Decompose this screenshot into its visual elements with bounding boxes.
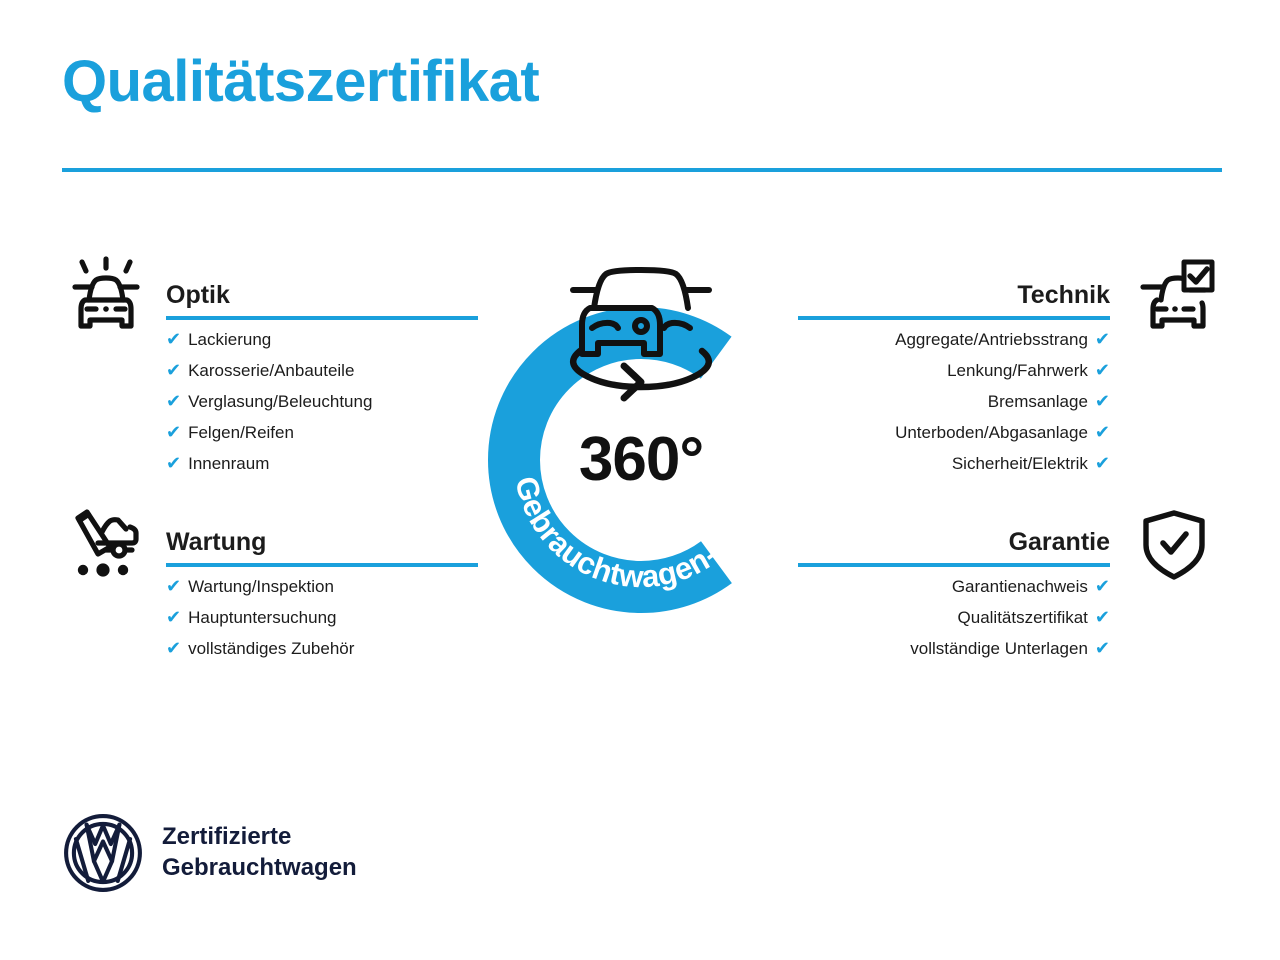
list-item-label: Sicherheit/Elektrik xyxy=(952,454,1088,473)
checklist-garantie: Garantienachweis✔ Qualitätszertifikat✔ v… xyxy=(798,571,1110,664)
check-icon: ✔ xyxy=(1095,633,1110,663)
checklist-technik: Aggregate/Antriebsstrang✔ Lenkung/Fahrwe… xyxy=(798,324,1110,479)
badge-degrees: 360° xyxy=(466,424,816,495)
list-item: Bremsanlage✔ xyxy=(798,386,1110,417)
section-divider-technik xyxy=(798,316,1110,320)
list-item: ✔Felgen/Reifen xyxy=(166,417,372,448)
brand-wordmark: Zertifizierte Gebrauchtwagen xyxy=(162,822,357,883)
title-divider xyxy=(62,168,1222,172)
list-item: Sicherheit/Elektrik✔ xyxy=(798,448,1110,479)
list-item-label: Bremsanlage xyxy=(988,392,1088,411)
list-item: ✔vollständiges Zubehör xyxy=(166,633,354,664)
section-garantie: Garantie Garantienachweis✔ Qualitätszert… xyxy=(802,515,1222,567)
section-title-technik: Technik xyxy=(1017,281,1110,310)
list-item-label: Felgen/Reifen xyxy=(188,423,294,442)
check-icon: ✔ xyxy=(166,355,181,385)
list-item-label: Lackierung xyxy=(188,330,271,349)
section-title-garantie: Garantie xyxy=(1009,528,1110,557)
section-title-optik: Optik xyxy=(166,281,230,310)
brand-line-2: Gebrauchtwagen xyxy=(162,853,357,884)
check-icon: ✔ xyxy=(1095,448,1110,478)
brand-footer: Zertifizierte Gebrauchtwagen xyxy=(62,812,357,894)
check-icon: ✔ xyxy=(1095,355,1110,385)
list-item: Aggregate/Antriebsstrang✔ xyxy=(798,324,1110,355)
list-item-label: Unterboden/Abgasanlage xyxy=(895,423,1088,442)
check-icon: ✔ xyxy=(166,633,181,663)
section-divider-optik xyxy=(166,316,478,320)
section-divider-garantie xyxy=(798,563,1110,567)
section-title-wartung: Wartung xyxy=(166,528,266,557)
check-icon: ✔ xyxy=(166,448,181,478)
list-item-label: Qualitätszertifikat xyxy=(958,608,1088,627)
page-title: Qualitätszertifikat xyxy=(62,52,539,113)
section-optik: Optik ✔Lackierung ✔Karosserie/Anbauteile… xyxy=(58,268,478,320)
list-item-label: Garantienachweis xyxy=(952,577,1088,596)
list-item: ✔Wartung/Inspektion xyxy=(166,571,354,602)
check-icon: ✔ xyxy=(166,324,181,354)
check-icon: ✔ xyxy=(166,386,181,416)
list-item-label: Hauptuntersuchung xyxy=(188,608,336,627)
list-item-label: Aggregate/Antriebsstrang xyxy=(895,330,1088,349)
list-item-label: Innenraum xyxy=(188,454,269,473)
section-technik: Technik Aggregate/Antriebsstrang✔ Lenkun… xyxy=(802,268,1222,320)
check-icon: ✔ xyxy=(1095,324,1110,354)
section-wartung: Wartung ✔Wartung/Inspektion ✔Hauptunters… xyxy=(58,515,478,567)
list-item-label: vollständige Unterlagen xyxy=(910,639,1088,658)
check-icon: ✔ xyxy=(1095,571,1110,601)
volkswagen-logo xyxy=(62,812,144,894)
list-item: ✔Verglasung/Beleuchtung xyxy=(166,386,372,417)
check-icon: ✔ xyxy=(166,602,181,632)
list-item: ✔Lackierung xyxy=(166,324,372,355)
list-item-label: Lenkung/Fahrwerk xyxy=(947,361,1088,380)
list-item: Qualitätszertifikat✔ xyxy=(798,602,1110,633)
checklist-optik: ✔Lackierung ✔Karosserie/Anbauteile ✔Verg… xyxy=(166,324,372,479)
list-item-label: Wartung/Inspektion xyxy=(188,577,334,596)
brand-line-1: Zertifizierte xyxy=(162,822,357,853)
check-icon: ✔ xyxy=(166,417,181,447)
list-item: ✔Innenraum xyxy=(166,448,372,479)
list-item: Garantienachweis✔ xyxy=(798,571,1110,602)
list-item-label: Verglasung/Beleuchtung xyxy=(188,392,372,411)
list-item-label: Karosserie/Anbauteile xyxy=(188,361,354,380)
check-icon: ✔ xyxy=(1095,386,1110,416)
check-icon: ✔ xyxy=(1095,602,1110,632)
list-item: vollständige Unterlagen✔ xyxy=(798,633,1110,664)
check-icon: ✔ xyxy=(166,571,181,601)
list-item: ✔Hauptuntersuchung xyxy=(166,602,354,633)
section-divider-wartung xyxy=(166,563,478,567)
list-item: Unterboden/Abgasanlage✔ xyxy=(798,417,1110,448)
list-item-label: vollständiges Zubehör xyxy=(188,639,354,658)
list-item: Lenkung/Fahrwerk✔ xyxy=(798,355,1110,386)
check-badge: Gebrauchtwagen-Check 360° xyxy=(466,246,816,636)
checklist-wartung: ✔Wartung/Inspektion ✔Hauptuntersuchung ✔… xyxy=(166,571,354,664)
check-icon: ✔ xyxy=(1095,417,1110,447)
list-item: ✔Karosserie/Anbauteile xyxy=(166,355,372,386)
